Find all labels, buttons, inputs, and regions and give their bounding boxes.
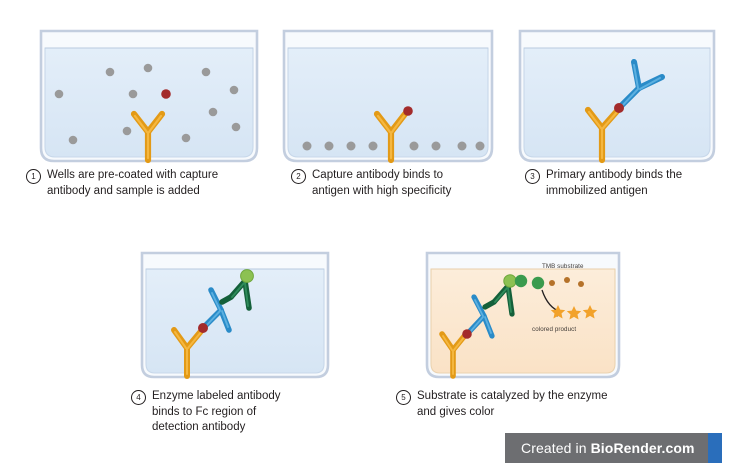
caption-text-4: Enzyme labeled antibody binds to Fc regi… [152, 389, 281, 436]
well-illustration-1 [38, 28, 260, 164]
panel-2 [281, 28, 495, 164]
biorender-attribution: Created in BioRender.com [505, 433, 739, 463]
panel-1 [38, 28, 260, 164]
caption-2: 2 Capture antibody binds to antigen with… [291, 168, 511, 199]
well-4 [139, 250, 331, 380]
well-5: TMB substrate colored product [424, 250, 622, 380]
step-number-4: 4 [131, 390, 146, 405]
created-in-label: Created in [521, 440, 587, 456]
caption-text-2: Capture antibody binds to antigen with h… [312, 168, 451, 199]
colored-product-label: colored product [532, 326, 576, 333]
enzyme-body [515, 275, 527, 287]
well-illustration-2 [281, 28, 495, 164]
caption-text-5: Substrate is catalyzed by the enzyme and… [417, 389, 608, 420]
caption-5: 5 Substrate is catalyzed by the enzyme a… [396, 389, 641, 420]
panel-4 [139, 250, 331, 380]
caption-text-3: Primary antibody binds the immobilized a… [546, 168, 682, 199]
enzyme-body-2 [532, 277, 544, 289]
step-number-5: 5 [396, 390, 411, 405]
panel-3 [517, 28, 717, 164]
biorender-bar: Created in BioRender.com [505, 433, 708, 463]
caption-4: 4 Enzyme labeled antibody binds to Fc re… [131, 389, 331, 436]
caption-text-1: Wells are pre-coated with capture antibo… [47, 168, 218, 199]
panel-5: TMB substrate colored product [424, 250, 622, 380]
antigen-bound [198, 323, 208, 333]
antigen-bound [614, 103, 624, 113]
enzyme-label [241, 270, 254, 283]
antigen-bound [462, 329, 472, 339]
step-number-3: 3 [525, 169, 540, 184]
enzyme-label [504, 275, 516, 287]
caption-1: 1 Wells are pre-coated with capture anti… [26, 168, 258, 199]
well-2 [281, 28, 495, 164]
biorender-brand: BioRender.com [591, 440, 695, 456]
well-1 [38, 28, 260, 164]
well-illustration-5 [424, 250, 622, 380]
antigen-bound [403, 106, 413, 116]
antigen-particle [161, 89, 171, 99]
well-3 [517, 28, 717, 164]
step-number-2: 2 [291, 169, 306, 184]
biorender-logo-icon [708, 433, 722, 463]
well-illustration-3 [517, 28, 717, 164]
well-illustration-4 [139, 250, 331, 380]
step-number-1: 1 [26, 169, 41, 184]
tmb-substrate-label: TMB substrate [542, 263, 584, 270]
well-liquid [524, 48, 710, 157]
well-liquid [146, 269, 324, 373]
caption-3: 3 Primary antibody binds the immobilized… [525, 168, 735, 199]
